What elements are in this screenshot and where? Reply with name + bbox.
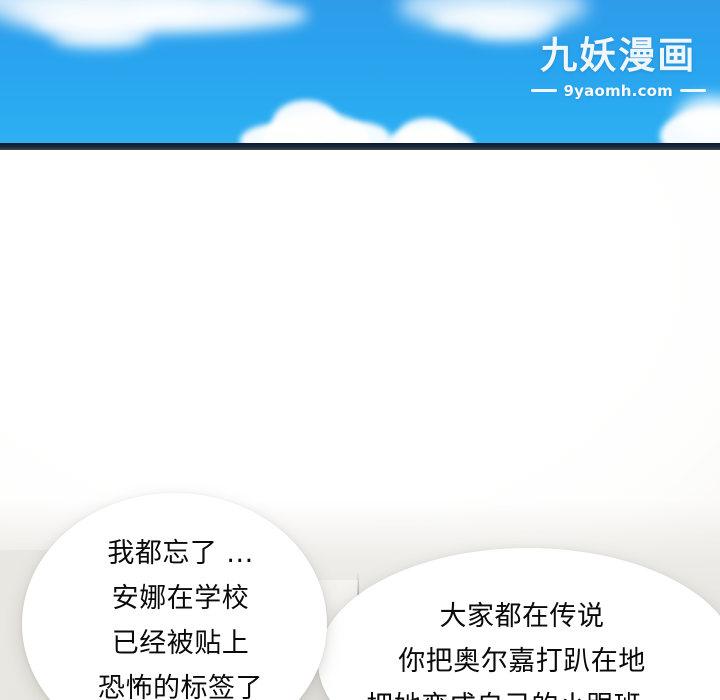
panel-divider [0, 143, 720, 150]
cloud-wisp [52, 28, 148, 48]
speech-bubble-right-text: 大家都在传说 你把奥尔嘉打趴在地 把她变成自己的小跟班 ... [366, 594, 677, 700]
watermark-url: 9yaomh.com [564, 82, 673, 100]
speech-bubble-left-text: 我都忘了 ... 安娜在学校 已经被贴上 恐怖的标签了 [98, 531, 263, 700]
cloud-puffy [330, 122, 390, 143]
watermark-rule-right-icon [680, 89, 706, 92]
sky-panel: 九妖漫画 9yaomh.com [0, 0, 720, 143]
watermark: 九妖漫画 9yaomh.com [531, 36, 706, 100]
comic-page: 九妖漫画 9yaomh.com 我都忘了 ... 安娜在学校 已经被贴上 恐怖的… [0, 0, 720, 700]
watermark-subtitle-row: 9yaomh.com [531, 82, 706, 100]
cloud-puffy [398, 118, 456, 143]
watermark-rule-left-icon [531, 89, 557, 92]
watermark-title: 九妖漫画 [531, 36, 706, 75]
cloud-wisp [468, 22, 550, 40]
comic-panel: 我都忘了 ... 安娜在学校 已经被贴上 恐怖的标签了 大家都在传说 你把奥尔嘉… [0, 150, 720, 700]
cloud-wisp [128, 0, 308, 30]
